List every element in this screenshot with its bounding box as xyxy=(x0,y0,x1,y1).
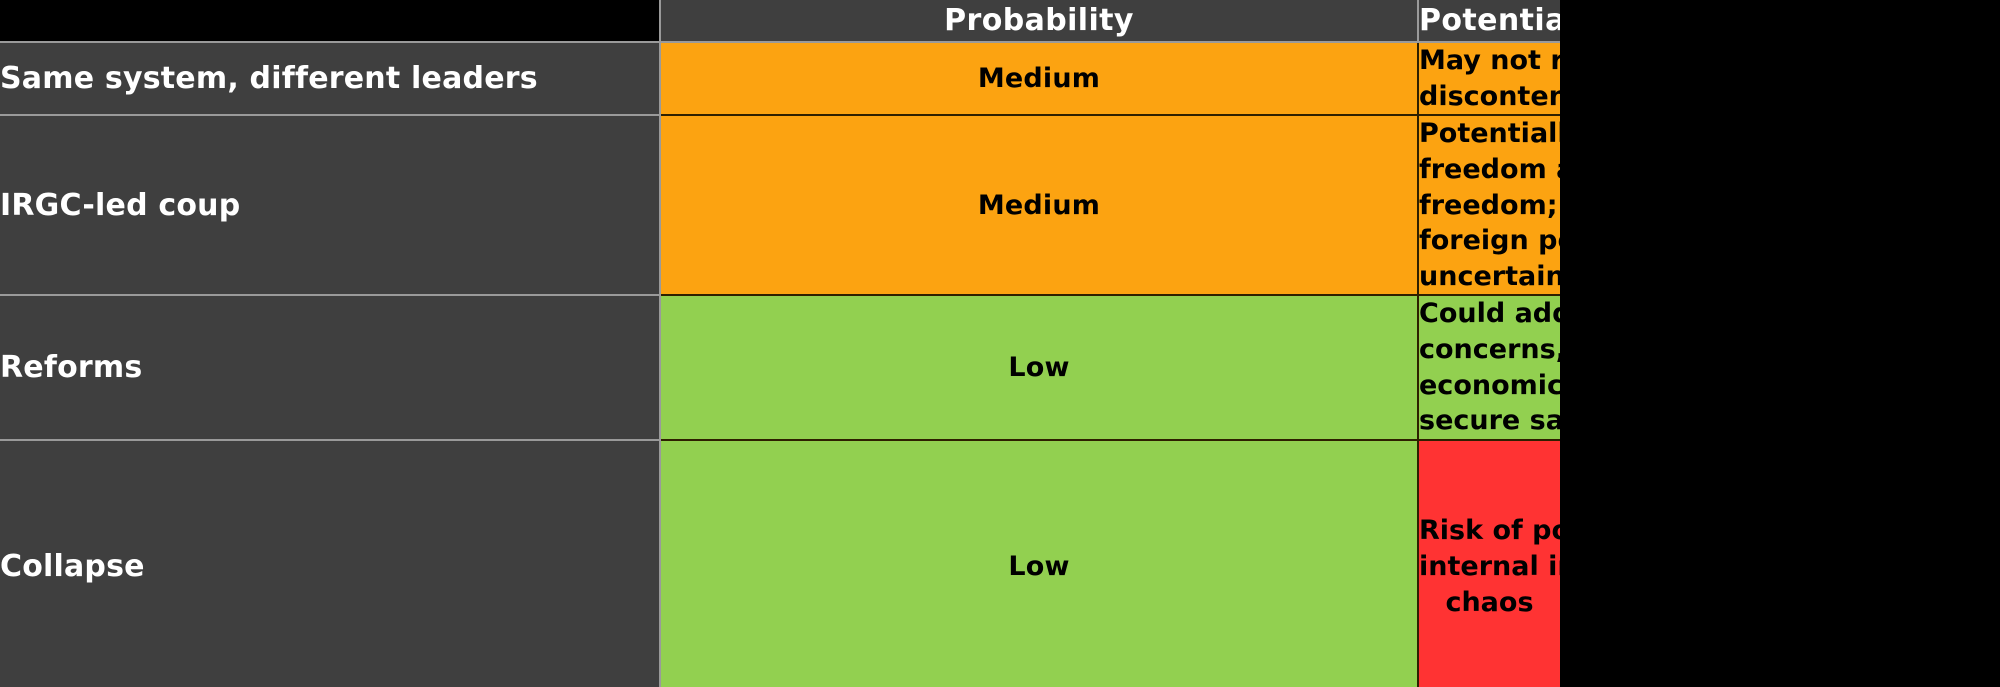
implication-line: uncertain xyxy=(1419,259,1560,295)
cell-probability: Low xyxy=(660,440,1418,687)
implication-line: Risk of power vacuum, xyxy=(1419,513,1560,549)
implication-line: concerns, unlock xyxy=(1419,332,1560,368)
table-header: Probability Potential Implications xyxy=(0,0,1560,42)
implication-line: May not resolve public xyxy=(1419,43,1560,79)
column-header-scenario xyxy=(0,0,660,42)
implication-line: economic benefits, and xyxy=(1419,368,1560,404)
cell-probability: Low xyxy=(660,295,1418,440)
implication-line: Could address public xyxy=(1419,296,1560,332)
implication-line: freedom and less political xyxy=(1419,152,1560,188)
cell-implications: May not resolve publicdiscontent xyxy=(1418,42,1560,115)
implication-line: Potentially more social xyxy=(1419,116,1560,152)
table-row: Collapse Low Risk of power vacuum,intern… xyxy=(0,440,1560,687)
implication-line: secure sanctions relief xyxy=(1419,403,1560,439)
column-header-implications: Potential Implications xyxy=(1418,0,1560,42)
cell-probability: Medium xyxy=(660,115,1418,295)
cell-scenario: Reforms xyxy=(0,295,660,440)
implication-line: foreign policy direction xyxy=(1419,223,1560,259)
implication-line: internal instability, and xyxy=(1419,549,1560,585)
background-gutter xyxy=(1560,0,2000,687)
cell-implications: Could address publicconcerns, unlockecon… xyxy=(1418,295,1560,440)
implication-line: discontent xyxy=(1419,79,1560,115)
table-body: Same system, different leaders Medium Ma… xyxy=(0,42,1560,687)
cell-implications: Potentially more socialfreedom and less … xyxy=(1418,115,1560,295)
column-header-probability: Probability xyxy=(660,0,1418,42)
implication-line: chaos xyxy=(1419,585,1560,621)
scenario-probability-table: Probability Potential Implications Same … xyxy=(0,0,1560,687)
cell-scenario: Same system, different leaders xyxy=(0,42,660,115)
table-row: Same system, different leaders Medium Ma… xyxy=(0,42,1560,115)
header-row: Probability Potential Implications xyxy=(0,0,1560,42)
cell-scenario: Collapse xyxy=(0,440,660,687)
table-row: IRGC-led coup Medium Potentially more so… xyxy=(0,115,1560,295)
cell-probability: Medium xyxy=(660,42,1418,115)
table-row: Reforms Low Could address publicconcerns… xyxy=(0,295,1560,440)
cell-implications: Risk of power vacuum,internal instabilit… xyxy=(1418,440,1560,687)
implication-line: freedom; economic and xyxy=(1419,188,1560,224)
screenshot-canvas: Probability Potential Implications Same … xyxy=(0,0,2000,687)
cell-scenario: IRGC-led coup xyxy=(0,115,660,295)
